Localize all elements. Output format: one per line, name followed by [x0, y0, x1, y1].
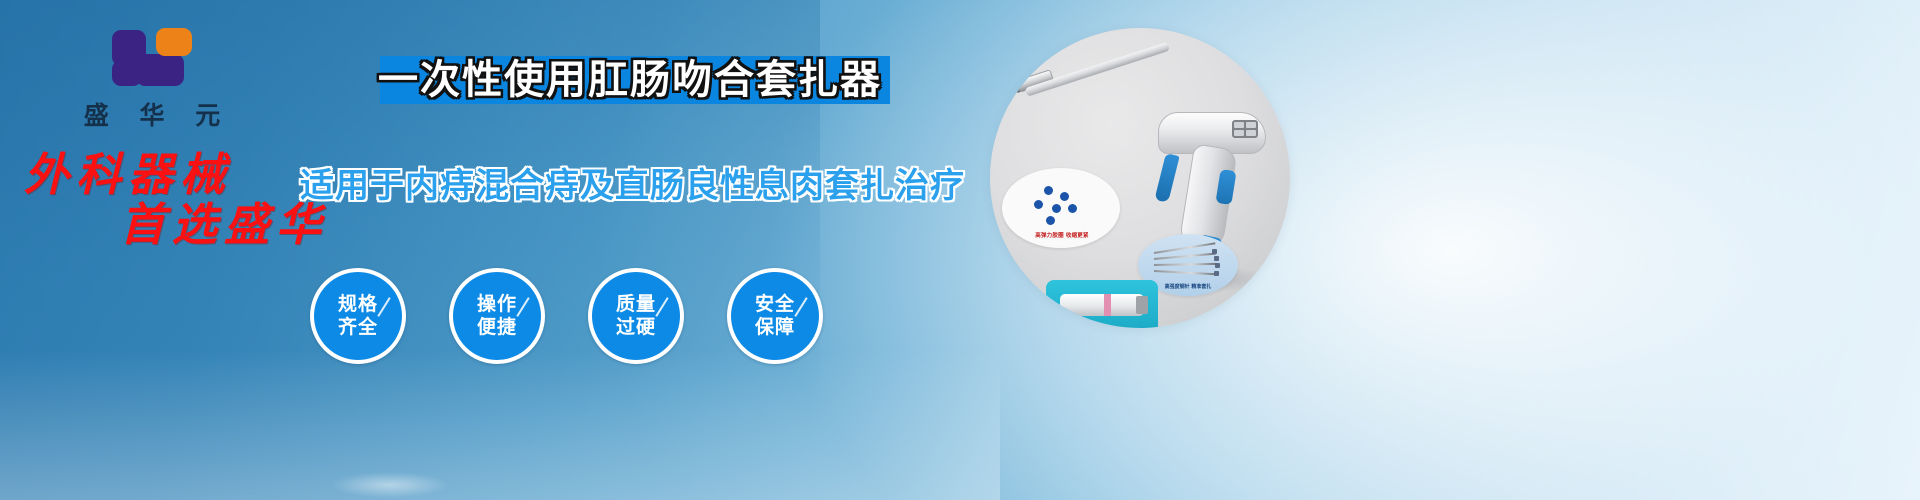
cyan-device-cap	[1136, 296, 1148, 314]
feature-badge-2-line1: 操作	[477, 293, 517, 316]
feature-badge-1-line1: 规格	[338, 293, 378, 316]
slash-icon	[377, 297, 390, 317]
rubber-rings-caption: 高弹力胶圈 收缩更紧	[1016, 231, 1108, 239]
slash-icon	[516, 297, 529, 317]
feature-badge-2[interactable]: 操作 便捷	[449, 268, 545, 364]
feature-badge-3-line2: 过硬	[616, 316, 656, 339]
feature-badge-1[interactable]: 规格 齐全	[310, 268, 406, 364]
promo-banner: 盛 华 元 外科器械 首选盛华 一次性使用肛肠吻合套扎器 适用于内痔混合痔及直肠…	[0, 0, 1920, 500]
bottom-watermark	[330, 472, 450, 498]
feature-badge-4-line1: 安全	[755, 293, 795, 316]
logo-block-orange	[156, 28, 192, 56]
slash-icon	[655, 297, 668, 317]
subtitle: 适用于内痔混合痔及直肠良性息肉套扎治疗	[300, 158, 920, 207]
background-gradient-bottom	[0, 350, 1000, 500]
shenghuayuan-blocks-logo-icon	[106, 24, 198, 90]
cyan-device-band	[1104, 294, 1111, 316]
feature-badge-list: 规格 齐全 操作 便捷 质量 过硬 安全 保障	[310, 268, 870, 368]
logo-block-lower-right	[136, 54, 184, 86]
feature-badge-2-line2: 便捷	[477, 316, 517, 339]
product-photo[interactable]: 高弹力胶圈 收缩更紧 高强度钢针 精准套扎	[990, 28, 1290, 328]
feature-badge-3-line1: 质量	[616, 293, 656, 316]
feature-badge-3[interactable]: 质量 过硬	[588, 268, 684, 364]
stapler-trigger	[1154, 153, 1179, 203]
calligraphy-line-2: 首选盛华	[120, 202, 354, 248]
slash-icon	[794, 297, 807, 317]
feature-badge-1-line2: 齐全	[338, 316, 378, 339]
page-title: 一次性使用肛肠吻合套扎器	[330, 52, 930, 108]
feature-badge-4-line2: 保障	[755, 316, 795, 339]
brand-logo-block[interactable]: 盛 华 元	[62, 24, 242, 132]
feature-badge-4[interactable]: 安全 保障	[727, 268, 823, 364]
stapler-control-keys	[1232, 120, 1258, 138]
cyan-device-inset	[1046, 280, 1158, 328]
cyan-device-tube	[1060, 294, 1144, 316]
rubber-rings-inset: 高弹力胶圈 收缩更紧	[1002, 168, 1120, 248]
company-name: 盛 华 元	[62, 96, 242, 132]
